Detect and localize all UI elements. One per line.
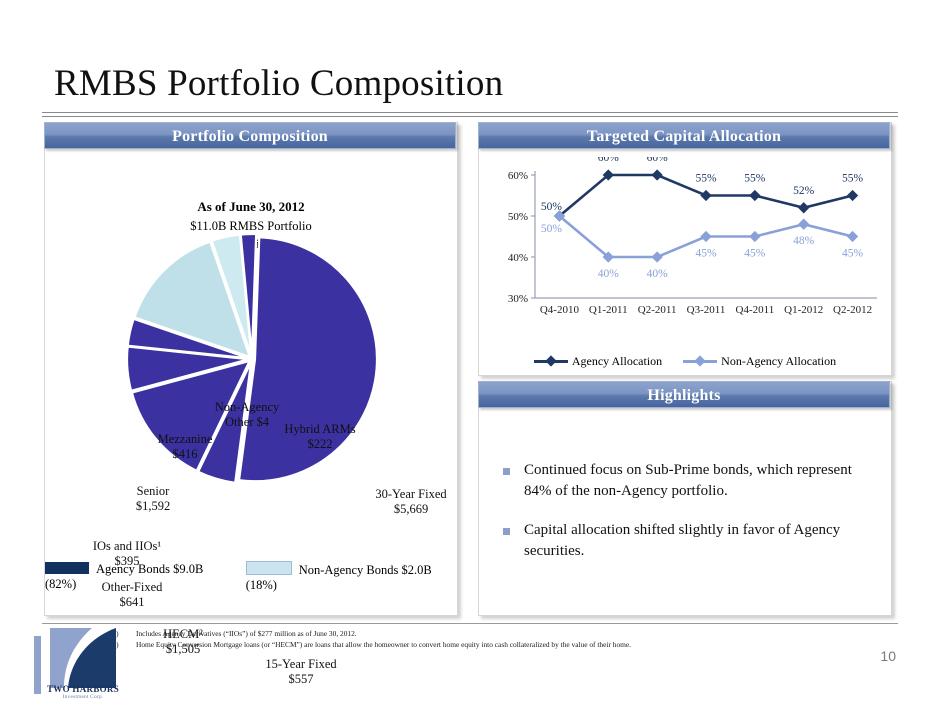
footnotes: (1) Includes Agency Derivatives (“IIOs”)… (110, 629, 870, 650)
pie-label-senior: Senior$1,592 (107, 484, 199, 514)
pie-label-mezzanine: Mezzanine$416 (135, 432, 235, 462)
data-point (798, 219, 809, 230)
data-label: 48% (793, 235, 815, 247)
line-chart-legend: Agency Allocation Non-Agency Allocation (479, 354, 891, 371)
line-chart: 30%40%50%60%Q4-2010Q1-2011Q2-2011Q3-2011… (479, 157, 891, 375)
legend-marker-non-agency (683, 356, 717, 366)
page-number: 10 (880, 648, 896, 664)
targeted-capital-allocation-header: Targeted Capital Allocation (478, 122, 890, 149)
data-label: 45% (695, 248, 717, 260)
bullet-icon (503, 528, 510, 535)
list-item: Continued focus on Sub-Prime bonds, whic… (497, 460, 877, 502)
data-label: 55% (842, 173, 864, 185)
slide-root: RMBS Portfolio Composition Portfolio Com… (0, 0, 940, 705)
portfolio-composition-body: As of June 30, 2012 $11.0B RMBS Portfoli… (45, 157, 457, 615)
bullet-icon (503, 468, 510, 475)
data-point (651, 251, 662, 262)
x-axis-label: Q2-2012 (833, 304, 872, 316)
line-chart-svg: 30%40%50%60%Q4-2010Q1-2011Q2-2011Q3-2011… (479, 157, 891, 332)
y-axis-label: 60% (508, 170, 528, 182)
data-label: 60% (647, 157, 669, 164)
pie-legend-swatch-agency (45, 562, 89, 574)
data-point (700, 231, 711, 242)
y-axis-label: 40% (508, 252, 528, 264)
title-divider (42, 112, 898, 117)
data-label: 55% (695, 173, 717, 185)
data-label: 60% (598, 157, 620, 164)
pie-label-hybrid-arms: Hybrid ARMs$222 (265, 422, 375, 452)
pie-legend: Agency Bonds $9.0B (82%) Non-Agency Bond… (45, 561, 457, 593)
x-axis-label: Q2-2011 (638, 304, 677, 316)
pie-legend-item-agency: Agency Bonds $9.0B (82%) (45, 562, 230, 592)
data-point (847, 190, 858, 201)
x-axis-label: Q3-2011 (687, 304, 726, 316)
data-label: 52% (793, 185, 815, 197)
pie-label-15-year-fixed: 15-Year Fixed$557 (241, 657, 361, 687)
data-label: 55% (744, 173, 766, 185)
footnote-2: (2) Home Equity Conversion Mortgage loan… (110, 640, 870, 651)
highlight-text: Capital allocation shifted slightly in f… (524, 520, 877, 562)
portfolio-composition-header: Portfolio Composition (44, 122, 456, 149)
highlights-header: Highlights (478, 381, 890, 408)
legend-marker-agency (534, 356, 568, 366)
logo-tagline: Investment Corp. (40, 694, 126, 700)
data-point (651, 169, 662, 180)
data-point (749, 190, 760, 201)
targeted-capital-allocation-panel: Targeted Capital Allocation 30%40%50%60%… (478, 122, 892, 376)
x-axis-label: Q4-2010 (540, 304, 580, 316)
data-label: 40% (598, 268, 620, 280)
data-label: 50% (541, 223, 563, 235)
footnote-1: (1) Includes Agency Derivatives (“IIOs”)… (110, 629, 870, 640)
data-label: 45% (842, 248, 864, 260)
data-point (749, 231, 760, 242)
list-item: Capital allocation shifted slightly in f… (497, 520, 877, 562)
x-axis-label: Q1-2012 (784, 304, 823, 316)
footnote-text: Includes Agency Derivatives (“IIOs”) of … (136, 629, 357, 640)
footnote-text: Home Equity Conversion Mortgage loans (o… (136, 640, 631, 651)
logo-company-name: TWO HARBORS (40, 684, 126, 694)
x-axis-label: Q4-2011 (736, 304, 775, 316)
highlight-text: Continued focus on Sub-Prime bonds, whic… (524, 460, 877, 502)
page-title: RMBS Portfolio Composition (54, 62, 503, 105)
legend-item-non-agency-allocation: Non-Agency Allocation (683, 354, 836, 369)
footer-divider (42, 623, 898, 626)
y-axis-label: 30% (508, 293, 528, 305)
pie-legend-swatch-non-agency (246, 561, 292, 575)
data-point (847, 231, 858, 242)
data-point (700, 190, 711, 201)
data-label: 40% (647, 268, 669, 280)
data-point (798, 202, 809, 213)
highlights-body: Continued focus on Sub-Prime bonds, whic… (479, 416, 891, 615)
legend-item-agency-allocation: Agency Allocation (534, 354, 662, 369)
highlights-panel: Highlights Continued focus on Sub-Prime … (478, 381, 892, 616)
portfolio-composition-panel: Portfolio Composition As of June 30, 201… (44, 122, 458, 616)
pie-label-30-year-fixed: 30-Year Fixed$5,669 (365, 487, 457, 517)
targeted-capital-allocation-body: 30%40%50%60%Q4-2010Q1-2011Q2-2011Q3-2011… (479, 157, 891, 375)
highlights-list: Continued focus on Sub-Prime bonds, whic… (497, 460, 877, 580)
pie-legend-item-non-agency: Non-Agency Bonds $2.0B (18%) (246, 561, 457, 593)
data-label: 45% (744, 248, 766, 260)
pie-chart-svg (45, 187, 457, 587)
x-axis-label: Q1-2011 (589, 304, 628, 316)
y-axis-label: 50% (508, 211, 528, 223)
